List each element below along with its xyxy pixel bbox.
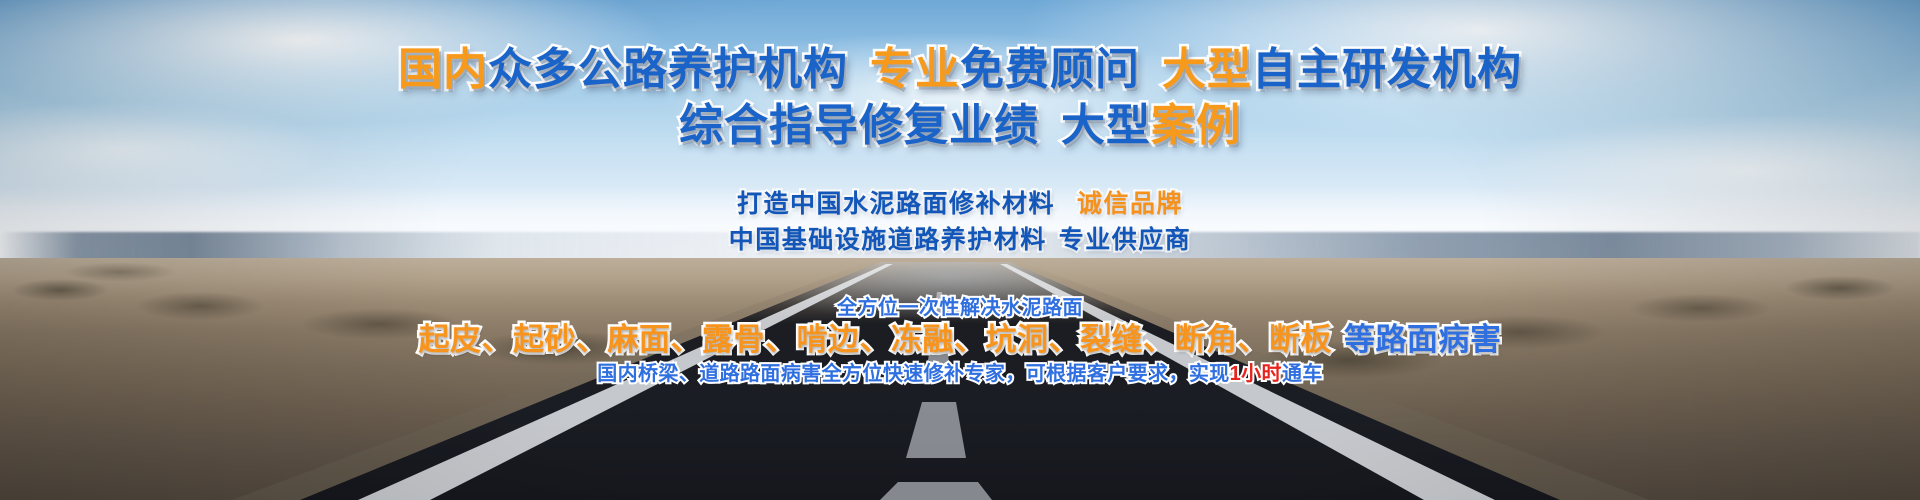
headline-seg-guidance: 综合指导修复业绩: [679, 101, 1039, 150]
footer-defects-line: 起皮、起砂、麻面、露骨、啃边、冻融、坑洞、裂缝、断角、断板等路面病害: [0, 314, 1920, 359]
subhead-trusted-brand: 诚信品牌: [1077, 190, 1183, 218]
subhead-infra-text: 中国基础设施道路养护材料: [729, 226, 1047, 254]
headline-seg-cases: 案例: [1151, 101, 1241, 150]
headline-seg-large-2: 大型: [1061, 101, 1151, 150]
headline-seg-large: 大型: [1162, 45, 1252, 94]
footer-claim-text-a: 国内桥梁、道路路面病害全方位快速修补专家，可根据客户要求，实现: [597, 363, 1229, 385]
headline-seg-agencies: 众多公路养护机构: [488, 45, 848, 94]
hero-banner: 国内众多公路养护机构专业免费顾问大型自主研发机构 综合指导修复业绩大型案例 打造…: [0, 0, 1920, 500]
footer-claim-hours: 1小时: [1230, 363, 1282, 385]
headline-seg-professional: 专业: [870, 45, 960, 94]
subhead-supplier-text: 专业供应商: [1059, 226, 1192, 254]
footer-claim-line: 国内桥梁、道路路面病害全方位快速修补专家，可根据客户要求，实现1小时通车: [0, 357, 1920, 386]
headline-seg-free-consult: 免费顾问: [960, 45, 1140, 94]
subhead-material-text: 打造中国水泥路面修补材料: [737, 190, 1055, 218]
headline-seg-rnd: 自主研发机构: [1252, 45, 1522, 94]
headline-seg-domestic: 国内: [398, 45, 488, 94]
subhead-line-1: 打造中国水泥路面修补材料诚信品牌: [0, 188, 1920, 222]
footer-defect-tail: 等路面病害: [1344, 322, 1502, 357]
subhead-line-2: 中国基础设施道路养护材料专业供应商: [0, 224, 1920, 258]
footer-defect-list: 起皮、起砂、麻面、露骨、啃边、冻融、坑洞、裂缝、断角、断板: [419, 322, 1333, 357]
footer-claim-text-b: 通车: [1282, 363, 1323, 385]
headline-line-2: 综合指导修复业绩大型案例: [0, 100, 1920, 151]
headline-line-1: 国内众多公路养护机构专业免费顾问大型自主研发机构: [0, 44, 1920, 95]
